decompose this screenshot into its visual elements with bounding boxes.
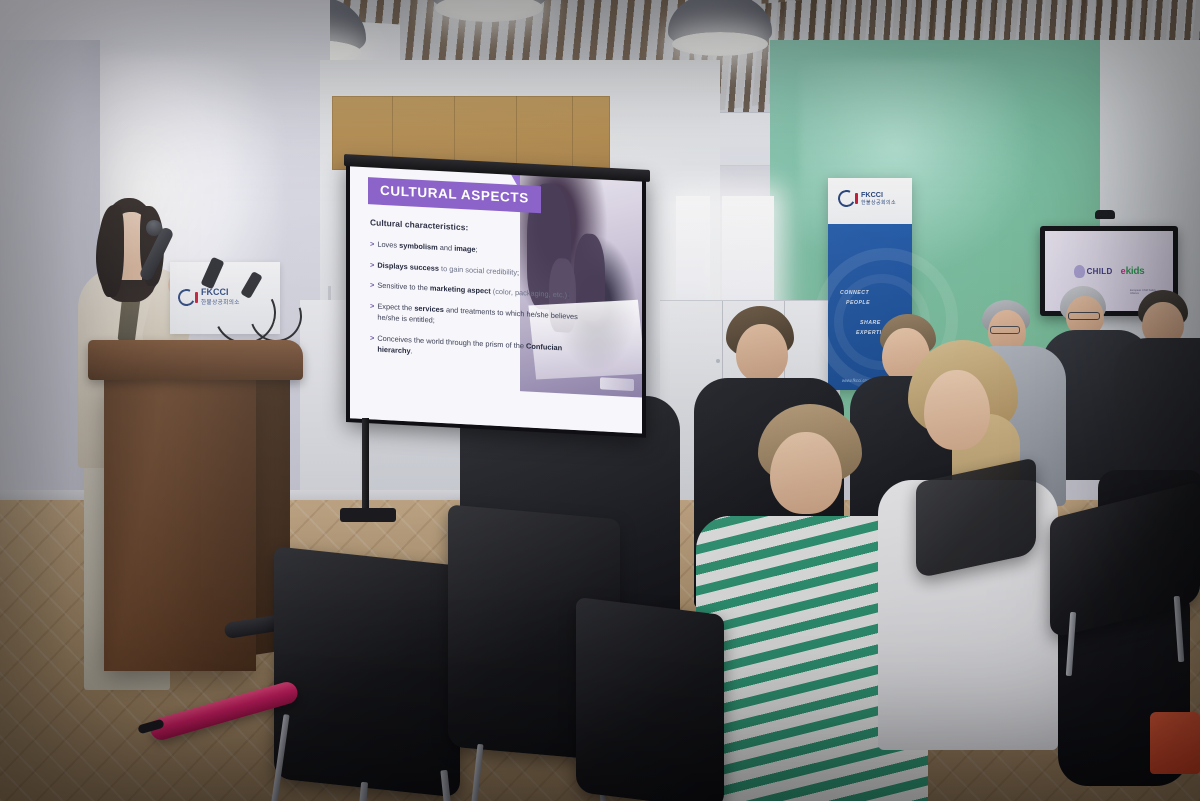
slide-title: CULTURAL ASPECTS [380,183,529,206]
slide-bullet: > Expect the services and treatments to … [370,300,585,333]
bullet-marker: > [370,279,374,290]
glasses-icon [990,326,1020,334]
ekids-logo: e kids [1121,266,1145,277]
bullet-marker: > [370,332,374,354]
bullet-marker: > [370,300,374,322]
glasses-icon [1068,312,1100,320]
ekids-text: kids [1126,266,1145,277]
slide-corner-logo [600,377,634,391]
banner-line-2: PEOPLE [846,300,870,306]
banner-line-1: CONNECT [840,290,869,296]
orange-bag [1150,712,1200,774]
bullet-marker: > [370,238,374,249]
child-logo: CHILD [1074,265,1113,278]
projected-slide: CULTURAL ASPECTS Cultural characteristic… [350,164,642,433]
fkcci-logo-bar-icon [855,193,858,204]
fkcci-logo-bar-icon [195,292,198,303]
bullet-text: Displays success to gain social credibil… [377,259,519,278]
fkcci-logo-icon [176,286,197,307]
slide-title-bar: CULTURAL ASPECTS [368,177,541,213]
chair-backrest [576,597,724,801]
wall-switch [328,286,331,300]
chair-backrest [274,546,460,798]
projection-screen-foot [340,508,396,522]
slide-bullet: > Displays success to gain social credib… [370,259,585,281]
podium-top [88,340,303,380]
slide-bullet: > Loves symbolism and image; [370,238,585,260]
banner-brand: FKCCI [861,191,896,198]
fkcci-logo-icon [836,188,857,209]
banner-korean: 한불상공회의소 [861,199,896,206]
brain-icon [1074,265,1085,278]
bullet-text: Loves symbolism and image; [377,239,477,255]
bullet-text: Expect the services and treatments to wh… [377,300,585,333]
presentation-room-photo: CULTURAL ASPECTS Cultural characteristic… [0,0,1200,801]
bullet-text: Conceives the world through the prism of… [377,332,585,365]
bullet-marker: > [370,259,374,270]
speaker-hair-front [98,205,124,297]
child-logo-text: CHILD [1087,267,1113,276]
slide-bullet: > Sensitive to the marketing aspect (col… [370,279,585,301]
banner-header: FKCCI 한불상공회의소 [828,178,912,224]
slide-bullet: > Conceives the world through the prism … [370,332,585,365]
bullet-text: Sensitive to the marketing aspect (color… [377,280,569,301]
projection-screen-pole [362,418,369,516]
slide-body: Cultural characteristics: > Loves symbol… [370,217,585,375]
banner-line-3: SHARE [860,320,881,326]
camera-icon [1095,210,1115,219]
projection-screen: CULTURAL ASPECTS Cultural characteristic… [346,160,646,438]
